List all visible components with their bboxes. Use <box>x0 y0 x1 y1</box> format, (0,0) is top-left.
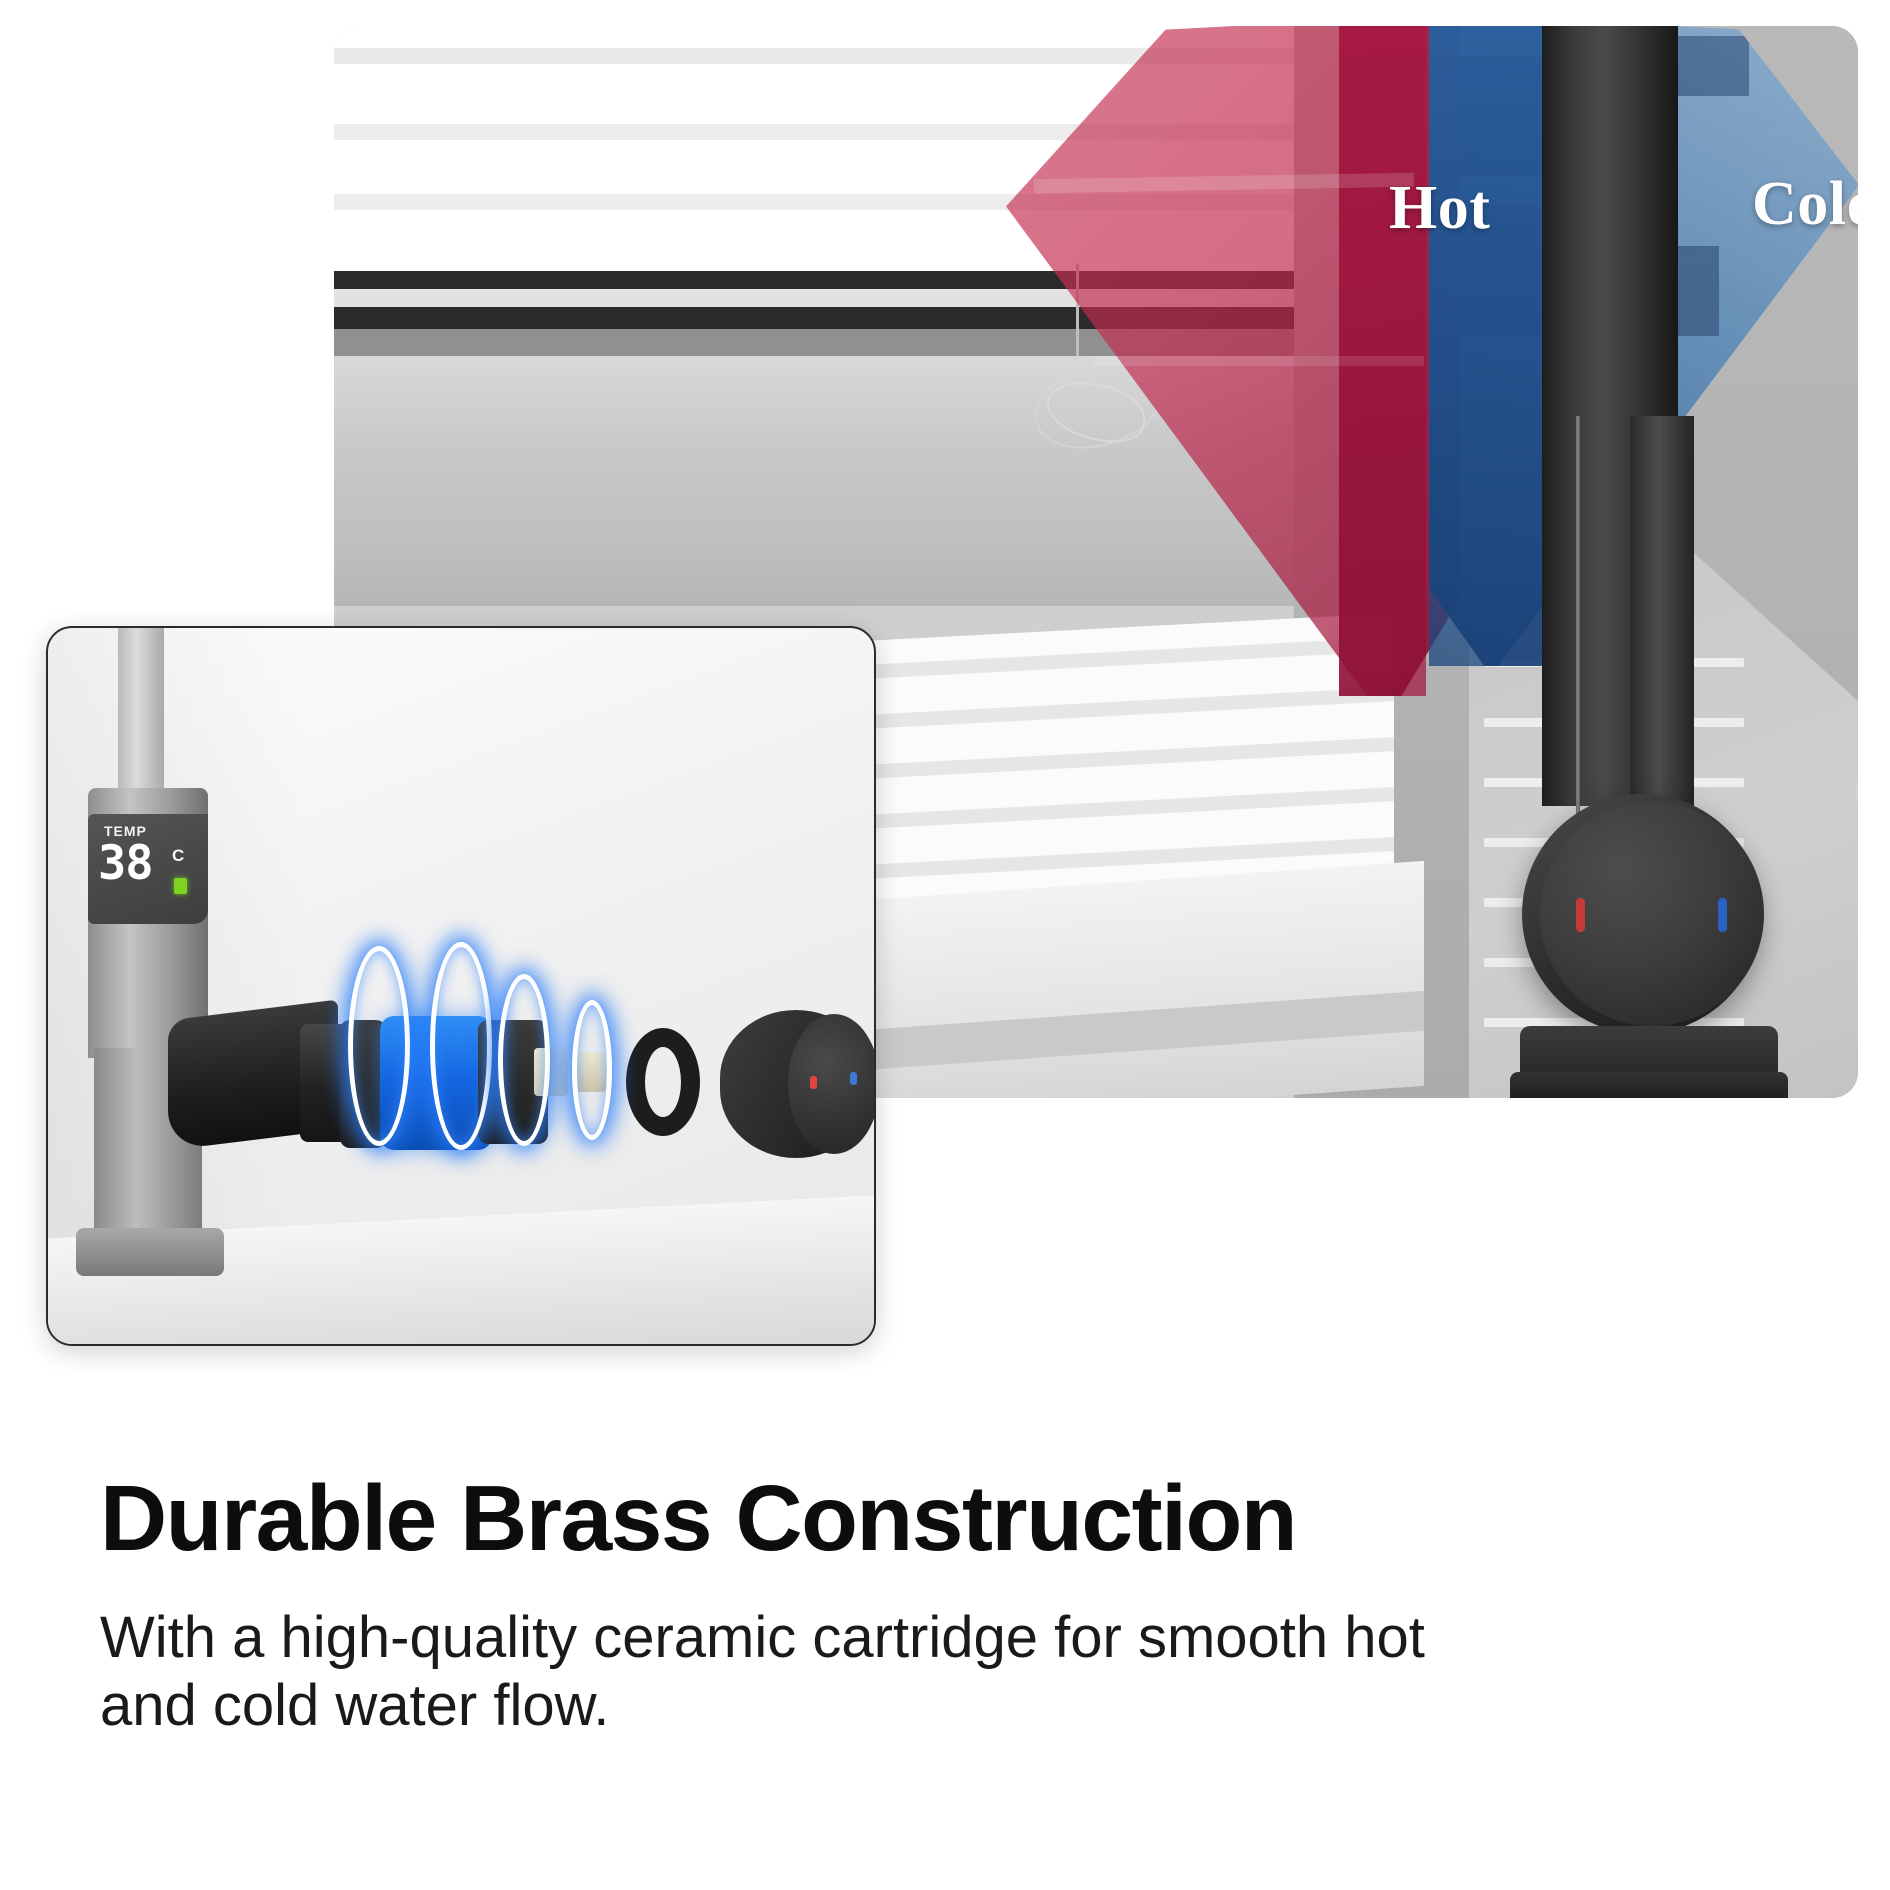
energy-glow-ring <box>430 942 492 1150</box>
energy-glow-ring <box>498 974 550 1146</box>
energy-glow-ring <box>572 1000 612 1140</box>
subheadline: With a high-quality ceramic cartridge fo… <box>100 1604 1520 1741</box>
inset-faucet-base <box>76 1228 224 1276</box>
headline: Durable Brass Construction <box>100 1472 1800 1565</box>
faucet-base-lip <box>1510 1072 1788 1098</box>
hot-label: Hot <box>1389 173 1490 244</box>
cold-water-cone-inner <box>1429 26 1549 666</box>
temperature-display: TEMP 38 C <box>88 814 208 924</box>
knob-hot-indicator <box>1576 898 1585 932</box>
control-knob-face <box>788 1014 876 1154</box>
faucet-groove <box>1576 416 1580 816</box>
temp-status-led <box>174 878 187 894</box>
temp-display-value: 38 <box>98 840 153 887</box>
window-sill-lower <box>334 526 1334 606</box>
inset-knob-hot-indicator <box>810 1076 817 1089</box>
inset-knob-cold-indicator <box>850 1072 857 1085</box>
cold-label: Cold <box>1752 169 1858 240</box>
faucet-column-secondary <box>1630 416 1694 816</box>
temp-display-unit: C <box>172 846 184 866</box>
trim-ring-part <box>626 1028 700 1136</box>
energy-glow-ring <box>348 946 410 1146</box>
faucet-control-knob[interactable] <box>1540 802 1764 1026</box>
hot-cone-sheen <box>1094 356 1424 366</box>
cartridge-detail-inset: TEMP 38 C <box>46 626 876 1346</box>
knob-cold-indicator <box>1718 898 1727 932</box>
